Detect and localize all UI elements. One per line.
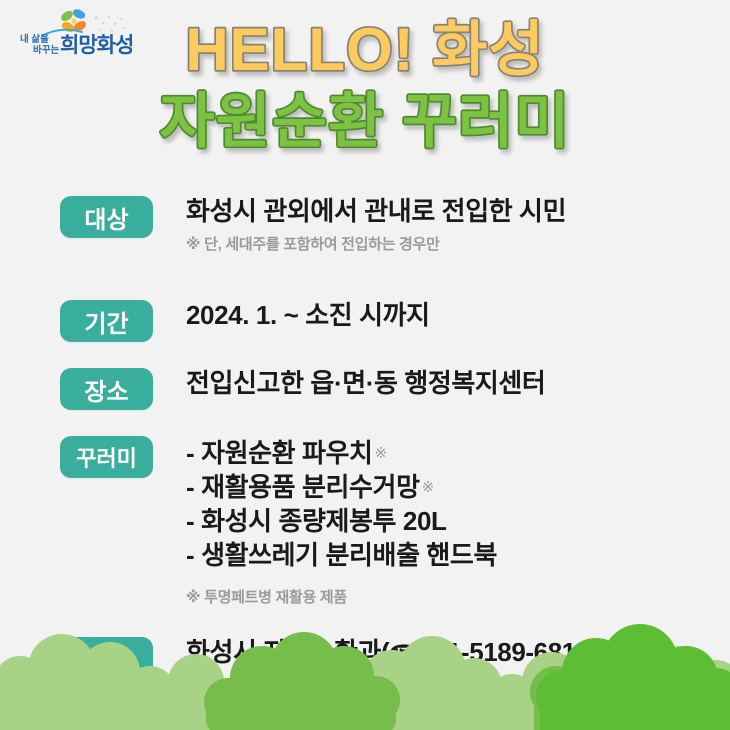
title-line-2: 자원순환 꾸러미 — [159, 88, 570, 155]
row-body-kkureomi: - 자원순환 파우치※ - 재활용품 분리수거망※ - 화성시 종량제봉투 20… — [186, 436, 499, 607]
row-body-jangso: 전입신고한 읍·면·동 행정복지센터 — [186, 368, 545, 398]
title-line-2-wrap: 자원순환 꾸러미 — [0, 90, 730, 168]
list-item: - 생활쓰레기 분리배출 핸드북 — [186, 539, 499, 573]
info-row-kkureomi: 꾸러미 - 자원순환 파우치※ - 재활용품 분리수거망※ - 화성시 종량제봉… — [0, 436, 730, 607]
row-body-munui: 화성시 자원순환과(☎031-5189-6814) — [186, 637, 598, 669]
info-row-gigan: 기간 2024. 1. ~ 소진 시까지 — [0, 300, 730, 342]
title-line-1-wrap: HELLO! 화성 — [0, 14, 730, 90]
row-body-gigan: 2024. 1. ~ 소진 시까지 — [186, 300, 430, 330]
asterisk-mark-icon: ※ — [422, 479, 434, 496]
list-item: - 자원순환 파우치※ — [186, 437, 499, 471]
row-note-daesang: ※ 단, 세대주를 포함하여 전입하는 경우만 — [186, 233, 566, 254]
asterisk-mark-icon: ※ — [375, 445, 387, 462]
list-item: - 화성시 종량제봉투 20L — [186, 505, 499, 539]
info-row-daesang: 대상 화성시 관외에서 관내로 전입한 시민 ※ 단, 세대주를 포함하여 전입… — [0, 196, 730, 254]
list-item: - 재활용품 분리수거망※ — [186, 471, 499, 505]
poster-title: HELLO! 화성 자원순환 꾸러미 — [0, 14, 730, 168]
telephone-icon: ☎ — [389, 641, 419, 668]
row-main-gigan: 2024. 1. ~ 소진 시까지 — [186, 301, 430, 330]
contact-department: 화성시 자원순환과( — [186, 637, 389, 667]
list-item-text: - 자원순환 파우치 — [186, 438, 373, 468]
badge-gigan: 기간 — [60, 300, 153, 342]
badge-munui: 문의 — [60, 637, 153, 679]
info-row-jangso: 장소 전입신고한 읍·면·동 행정복지센터 — [0, 368, 730, 410]
badge-daesang: 대상 — [60, 196, 153, 238]
row-body-daesang: 화성시 관외에서 관내로 전입한 시민 ※ 단, 세대주를 포함하여 전입하는 … — [186, 196, 566, 254]
kkureomi-footnote: ※ 투명페트병 재활용 제품 — [186, 586, 499, 607]
list-item-text: - 재활용품 분리수거망 — [186, 472, 420, 502]
title-line-1: HELLO! 화성 — [185, 16, 544, 83]
list-item-text: - 화성시 종량제봉투 20L — [186, 506, 447, 536]
info-rows: 대상 화성시 관외에서 관내로 전입한 시민 ※ 단, 세대주를 포함하여 전입… — [0, 196, 730, 679]
row-main-jangso: 전입신고한 읍·면·동 행정복지센터 — [186, 369, 545, 398]
row-main-daesang: 화성시 관외에서 관내로 전입한 시민 — [186, 197, 566, 226]
contact-suffix: ) — [590, 637, 598, 667]
list-item-text: - 생활쓰레기 분리배출 핸드북 — [186, 540, 497, 570]
row-main-munui: 화성시 자원순환과(☎031-5189-6814) — [186, 638, 598, 669]
contact-phone-number: 031-5189-6814 — [419, 637, 590, 667]
info-row-munui: 문의 화성시 자원순환과(☎031-5189-6814) — [0, 637, 730, 679]
poster-canvas: 내 삶을 바꾸는 희망화성 HELLO! 화성 — [0, 0, 730, 730]
badge-jangso: 장소 — [60, 368, 153, 410]
badge-kkureomi: 꾸러미 — [60, 436, 153, 478]
kkureomi-list: - 자원순환 파우치※ - 재활용품 분리수거망※ - 화성시 종량제봉투 20… — [186, 437, 499, 572]
